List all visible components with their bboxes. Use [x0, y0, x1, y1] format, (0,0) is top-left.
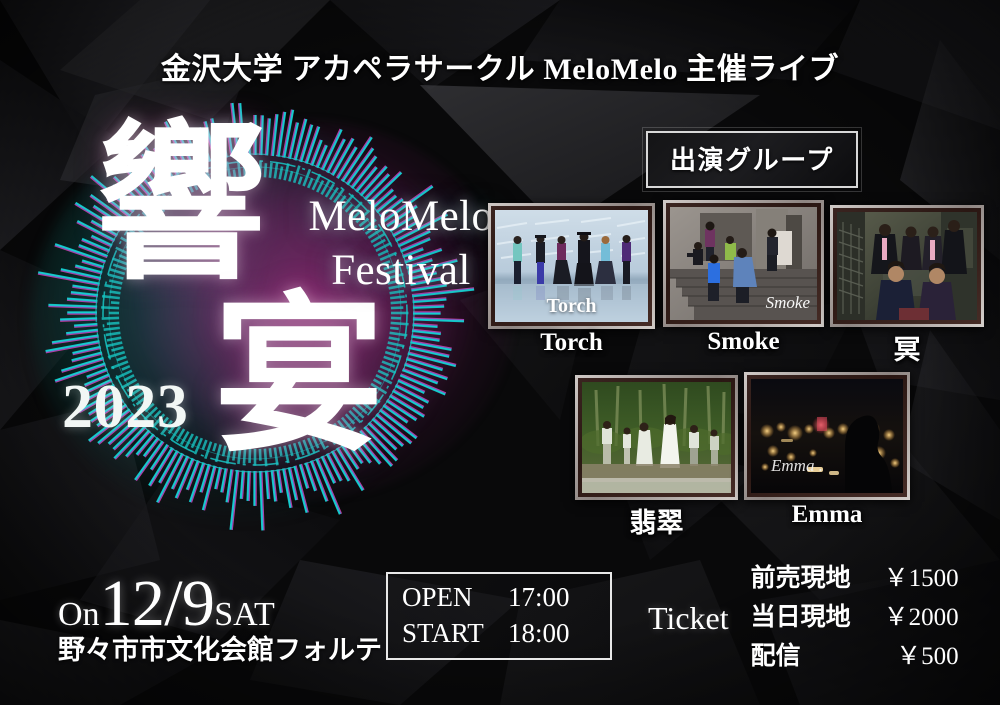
concert-flyer: 金沢大学 アカペラサークル MeloMelo 主催ライブ 響 宴 MeloMel… [0, 0, 1000, 705]
ticket-type: 前売現地 [751, 560, 869, 599]
photo-frame-inner: Smoke [666, 203, 821, 324]
festival-title: MeloMelo Festival [296, 190, 506, 298]
title-kanji-second: 宴 [214, 300, 384, 456]
ticket-price-list: 前売現地 ￥1500 当日現地 ￥2000 配信 ￥500 [751, 560, 959, 676]
ticket-type: 配信 [751, 638, 869, 677]
photo-frame [575, 375, 738, 500]
photo-frame-inner [833, 208, 981, 324]
photo-frame-inner [578, 378, 735, 497]
svg-text:Emma .: Emma . [770, 456, 823, 475]
time-row-start: START 18:00 [388, 616, 610, 652]
svg-text:Smoke: Smoke [766, 293, 811, 312]
ticket-price: ￥500 [869, 638, 959, 677]
time-row-open: OPEN 17:00 [388, 580, 610, 616]
group-photo-emma: Emma . [751, 379, 903, 493]
start-time: 18:00 [508, 616, 570, 652]
group-card-mei[interactable]: 冥 [830, 205, 984, 327]
festival-title-line2: Festival [296, 244, 506, 298]
photo-frame-inner: Emma . [747, 375, 907, 497]
time-box: OPEN 17:00 START 18:00 [386, 572, 612, 660]
ticket-label: Ticket [648, 600, 729, 637]
group-name-torch: Torch [488, 329, 655, 357]
ticket-block: Ticket 前売現地 ￥1500 当日現地 ￥2000 配信 ￥500 [648, 560, 959, 676]
page-title: 金沢大学 アカペラサークル MeloMelo 主催ライブ [0, 44, 1000, 88]
group-photo-hisui [582, 382, 731, 493]
group-card-smoke[interactable]: Smoke Smoke [663, 200, 824, 327]
group-name-mei: 冥 [830, 328, 984, 367]
start-label: START [402, 616, 508, 652]
venue-name: 野々市市文化会館フォルテ [58, 628, 382, 667]
photo-frame: Torch [488, 203, 655, 329]
lineup-badge: 出演グループ [646, 131, 858, 188]
group-photo-mei [837, 212, 977, 320]
group-name-hisui: 翡翠 [575, 501, 738, 540]
ticket-row: 前売現地 ￥1500 [751, 560, 959, 599]
photo-frame-inner: Torch [491, 206, 652, 326]
group-card-hisui[interactable]: 翡翠 [575, 375, 738, 500]
photo-frame [830, 205, 984, 327]
ticket-row: 配信 ￥500 [751, 638, 959, 677]
group-card-torch[interactable]: Torch Torch [488, 203, 655, 329]
open-label: OPEN [402, 580, 508, 616]
group-name-emma: Emma [744, 501, 910, 529]
group-photo-smoke: Smoke [670, 207, 817, 320]
photo-caption-torch: Torch [495, 295, 648, 318]
open-time: 17:00 [508, 580, 570, 616]
ticket-price: ￥1500 [869, 560, 959, 599]
ticket-price: ￥2000 [869, 599, 959, 638]
group-card-emma[interactable]: Emma . Emma [744, 372, 910, 500]
photo-frame: Smoke [663, 200, 824, 327]
festival-title-line1: MeloMelo [296, 190, 506, 244]
year-label: 2023 [62, 372, 188, 443]
photo-frame: Emma . [744, 372, 910, 500]
group-name-smoke: Smoke [663, 328, 824, 356]
ticket-row: 当日現地 ￥2000 [751, 599, 959, 638]
title-kanji-first: 響 [96, 128, 266, 284]
ticket-type: 当日現地 [751, 599, 869, 638]
group-photo-torch: Torch [495, 210, 648, 322]
